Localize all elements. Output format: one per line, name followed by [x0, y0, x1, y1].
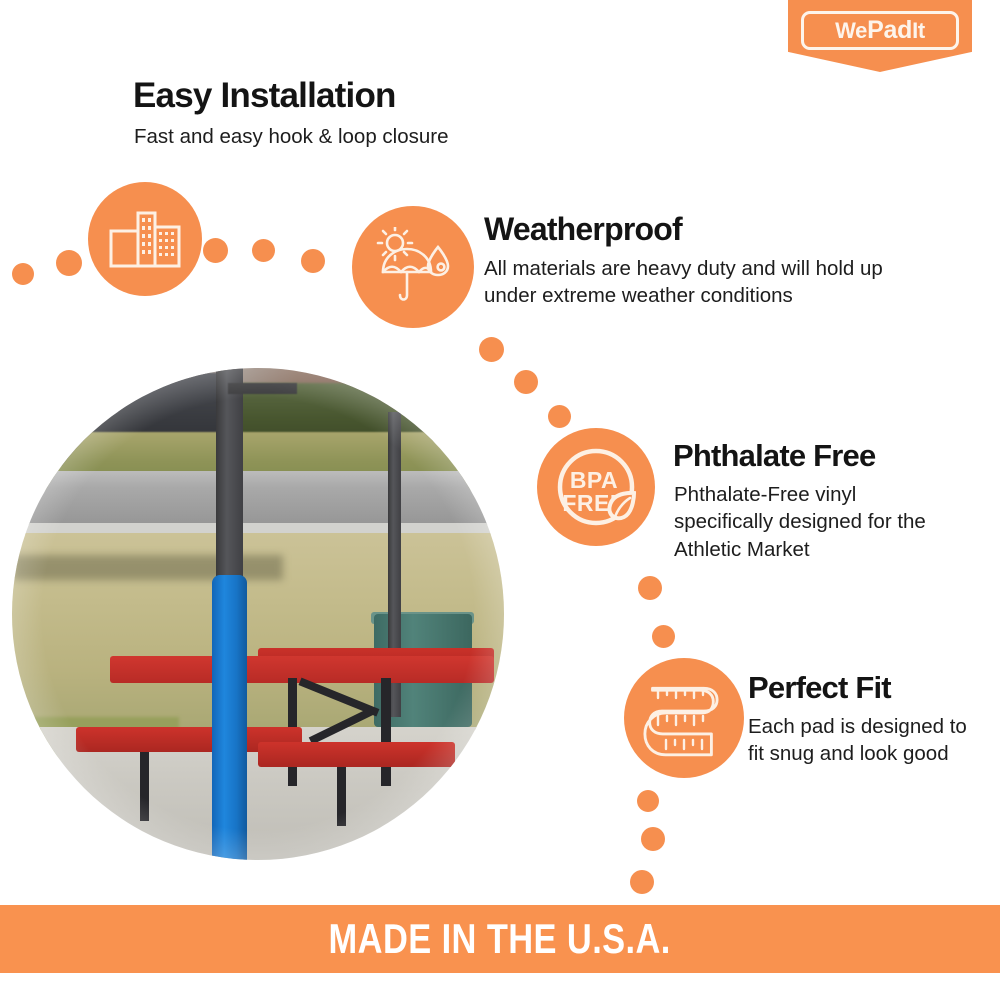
bpa-free-leaf-icon: BPA FREE [550, 441, 642, 533]
logo-prefix: We [835, 18, 867, 43]
sun-umbrella-raindrop-icon [371, 227, 455, 307]
feature-subtitle-perfect-fit: Each pad is designed to fit snug and loo… [748, 713, 978, 768]
feature-subtitle-weatherproof: All materials are heavy duty and will ho… [484, 255, 914, 310]
feature-title-phthalate-free: Phthalate Free [673, 440, 875, 473]
feature-icon-easy-installation [88, 182, 202, 296]
trail-dot [514, 370, 538, 394]
photo-vignette [12, 368, 504, 860]
feature-icon-perfect-fit [624, 658, 744, 778]
logo-mid: Pad [867, 16, 912, 44]
building-icon [108, 209, 182, 269]
feature-subtitle-easy-installation: Fast and easy hook & loop closure [134, 123, 554, 150]
trail-dot [301, 249, 325, 273]
feature-title-weatherproof: Weatherproof [484, 213, 682, 247]
trail-dot [638, 576, 662, 600]
trail-dot [56, 250, 82, 276]
made-in-usa-banner: MADE IN THE U.S.A. [0, 905, 1000, 973]
feature-subtitle-phthalate-free: Phthalate-Free vinyl specifically design… [674, 481, 934, 563]
measuring-tape-icon [640, 674, 728, 762]
trail-dot [252, 239, 275, 262]
feature-icon-weatherproof [352, 206, 474, 328]
product-infographic: WePadIt Easy Installation Fast and easy … [0, 0, 1000, 987]
brand-logo: WePadIt [788, 0, 972, 72]
trail-dot [548, 405, 571, 428]
trail-dot [479, 337, 504, 362]
trail-dot [203, 238, 228, 263]
feature-icon-phthalate-free: BPA FREE [537, 428, 655, 546]
trail-dot [641, 827, 665, 851]
product-photo [12, 368, 504, 860]
trail-dot [637, 790, 659, 812]
trail-dot [652, 625, 675, 648]
logo-inner-border: WePadIt [801, 11, 959, 50]
made-in-usa-text: MADE IN THE U.S.A. [329, 915, 671, 963]
trail-dot [630, 870, 654, 894]
feature-title-easy-installation: Easy Installation [133, 78, 396, 115]
logo-suffix: It [912, 18, 925, 43]
logo-wordmark: WePadIt [835, 18, 925, 43]
trail-dot [12, 263, 34, 285]
feature-title-perfect-fit: Perfect Fit [748, 672, 891, 705]
